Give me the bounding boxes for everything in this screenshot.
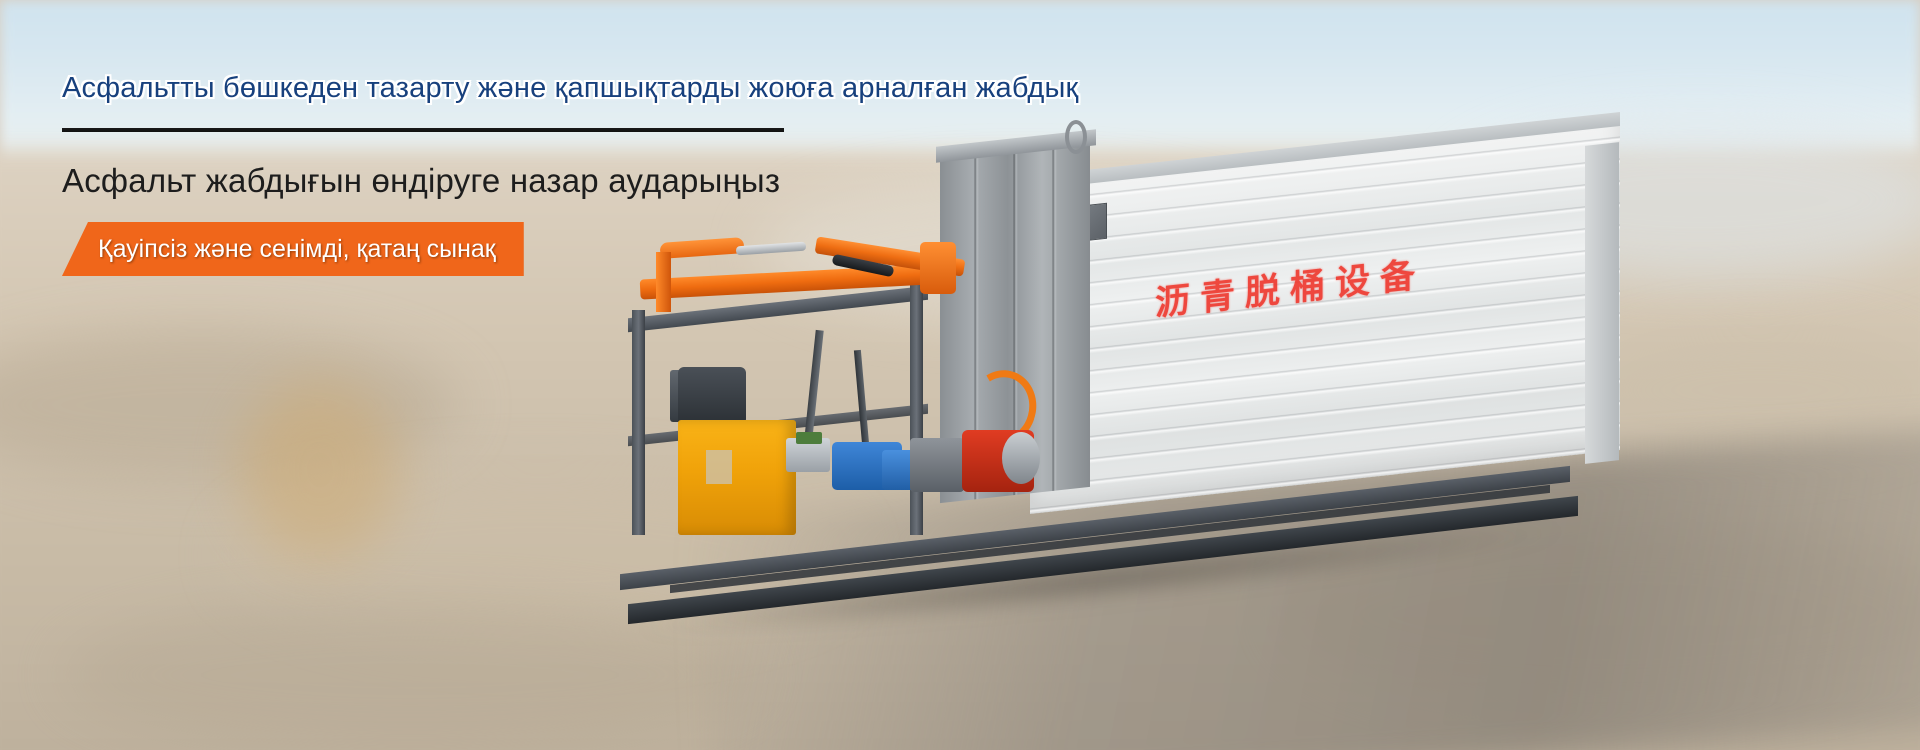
background-blur-blob bbox=[240, 380, 400, 560]
banner-badge-label: Қауіпсіз және сенімді, қатаң сынақ bbox=[98, 235, 496, 264]
valve-handle bbox=[796, 432, 822, 444]
hydraulic-cylinder bbox=[660, 237, 745, 259]
boom-pivot-post bbox=[656, 252, 671, 312]
hydraulic-rod bbox=[736, 242, 806, 256]
pump-gearbox bbox=[910, 438, 964, 492]
banner-headline: Асфальтты бөшкеден тазарту және қапшықта… bbox=[62, 72, 1078, 105]
background-blur-blob bbox=[1580, 330, 1920, 450]
frame-post-left bbox=[632, 310, 645, 535]
power-pack-nameplate bbox=[706, 450, 732, 484]
frame-post-right bbox=[910, 285, 923, 535]
burner-fan-housing bbox=[1002, 432, 1040, 484]
boom-head bbox=[920, 242, 956, 294]
electric-motor bbox=[678, 367, 746, 425]
tank-end-cap bbox=[1585, 142, 1619, 464]
banner-badge: Қауіпсіз және сенімді, қатаң сынақ bbox=[62, 222, 524, 276]
hydraulic-power-pack bbox=[678, 420, 796, 535]
hero-banner: 沥青脱桶设备 Асфальтты бөшкеден bbox=[0, 0, 1920, 750]
pipe-vertical-b bbox=[854, 350, 869, 445]
headline-divider bbox=[62, 128, 784, 132]
lifting-hook-icon bbox=[1065, 120, 1087, 154]
banner-subtitle: Асфальт жабдығын өндіруге назар аударыңы… bbox=[62, 162, 780, 200]
